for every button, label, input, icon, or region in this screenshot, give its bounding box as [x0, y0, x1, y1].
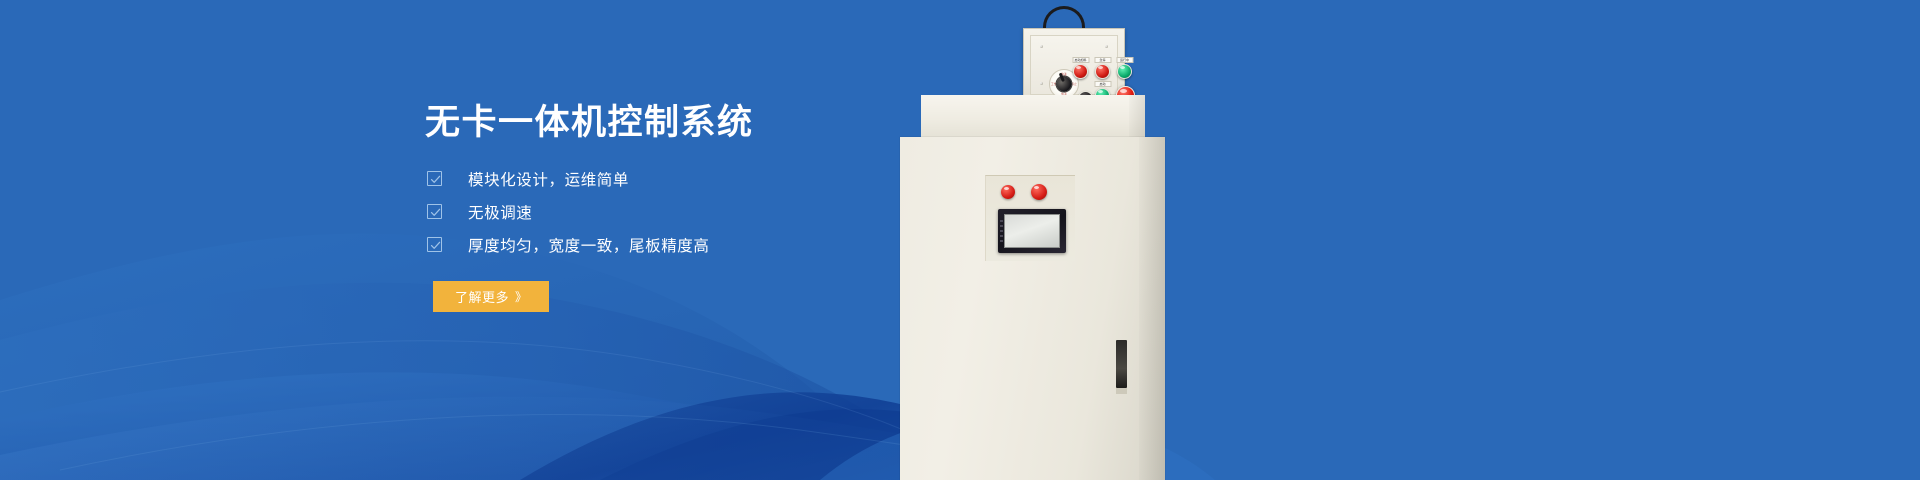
checkbox-checked-icon: [427, 237, 442, 252]
feature-label: 厚度均匀，宽度一致，尾板精度高: [468, 234, 710, 256]
control-box-face: 快进 快退 工作 停止 启动加料 急停 运行中: [1030, 35, 1118, 95]
hmi-touchscreen[interactable]: [998, 209, 1066, 253]
hmi-side-keys: [1000, 220, 1003, 242]
cabinet-top-cap: [921, 95, 1145, 139]
button-red-1[interactable]: 启动加料: [1073, 64, 1088, 79]
selector-knob[interactable]: [1054, 74, 1074, 94]
feature-label: 模块化设计，运维简单: [468, 168, 629, 190]
cabinet-button-red-2[interactable]: [1031, 184, 1047, 200]
product-photo: 快进 快退 工作 停止 启动加料 急停 运行中: [880, 0, 1340, 480]
hero-banner: 快进 快退 工作 停止 启动加料 急停 运行中: [0, 0, 1920, 480]
control-box: 快进 快退 工作 停止 启动加料 急停 运行中: [1023, 28, 1125, 102]
button-label-plate: 启动加料: [1072, 57, 1089, 63]
button-label-plate: 启动: [1094, 81, 1111, 87]
cabinet-button-red-1[interactable]: [1001, 185, 1015, 199]
checkbox-checked-icon: [427, 171, 442, 186]
feature-label: 无极调速: [468, 201, 532, 223]
learn-more-label: 了解更多: [455, 287, 509, 306]
page-title: 无卡一体机控制系统: [425, 94, 754, 145]
button-green-1[interactable]: 运行中: [1117, 64, 1132, 79]
feature-item: 无极调速: [427, 195, 710, 228]
feature-item: 模块化设计，运维简单: [427, 162, 710, 195]
learn-more-button[interactable]: 了解更多 》: [433, 281, 549, 312]
screw-icon: [1105, 45, 1108, 48]
hmi-screen-surface[interactable]: [1004, 214, 1060, 248]
button-label-plate: 急停: [1094, 57, 1111, 63]
screw-icon: [1040, 45, 1043, 48]
button-cap[interactable]: [1117, 64, 1132, 79]
hero-content: 无卡一体机控制系统 模块化设计，运维简单 无极调速: [425, 0, 885, 480]
double-chevron-right-icon: 》: [515, 291, 527, 303]
button-red-2[interactable]: 急停: [1095, 64, 1110, 79]
selector-label-right: 停止: [1071, 82, 1077, 86]
screw-icon: [1040, 82, 1043, 85]
button-cap[interactable]: [1095, 64, 1110, 79]
button-label-plate: 运行中: [1116, 57, 1133, 63]
feature-item: 厚度均匀，宽度一致，尾板精度高: [427, 228, 710, 261]
cabinet-vent-lip: [1116, 388, 1127, 394]
feature-list: 模块化设计，运维简单 无极调速 厚度均匀，宽度一致，尾板精度高: [427, 162, 710, 261]
checkbox-checked-icon: [427, 204, 442, 219]
button-cap[interactable]: [1073, 64, 1088, 79]
cabinet-vent-slot: [1116, 340, 1127, 388]
